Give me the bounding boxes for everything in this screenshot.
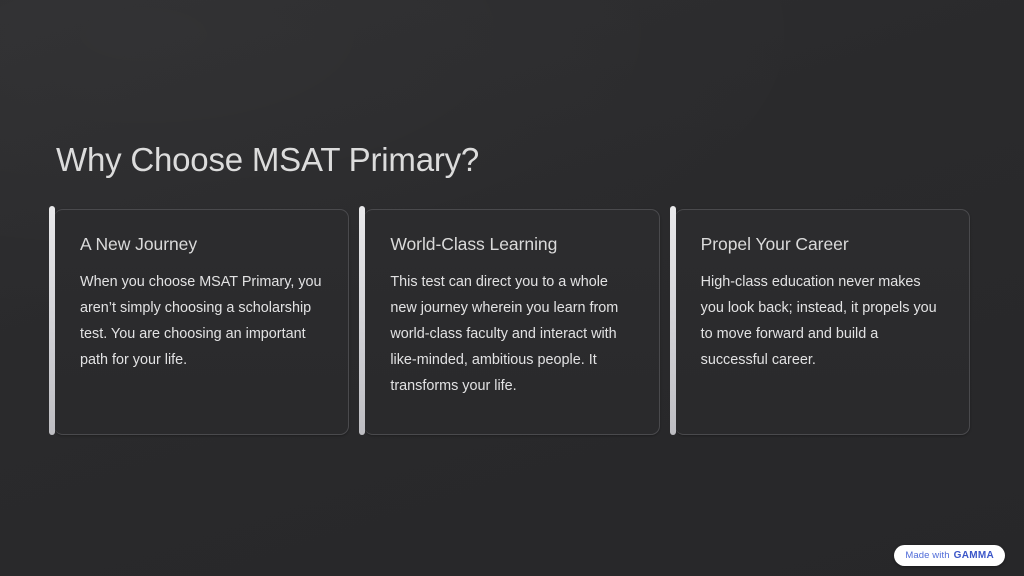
card-accent-bar — [670, 206, 676, 435]
card-accent-bar — [359, 206, 365, 435]
card-title: World-Class Learning — [390, 232, 634, 256]
card-body-text: This test can direct you to a whole new … — [390, 269, 634, 399]
card-title: Propel Your Career — [701, 232, 945, 256]
card-title: A New Journey — [80, 232, 324, 256]
card-body-text: High-class education never makes you loo… — [701, 269, 945, 373]
badge-gamma-wordmark: GAMMA — [954, 551, 994, 561]
card-body-text: When you choose MSAT Primary, you aren’t… — [80, 269, 324, 373]
feature-card[interactable]: A New Journey When you choose MSAT Prima… — [54, 209, 349, 435]
card-accent-bar — [49, 206, 55, 435]
page-title: Why Choose MSAT Primary? — [56, 139, 479, 181]
feature-card[interactable]: World-Class Learning This test can direc… — [364, 209, 659, 435]
slide-canvas: Why Choose MSAT Primary? A New Journey W… — [0, 0, 1024, 576]
feature-card-row: A New Journey When you choose MSAT Prima… — [54, 209, 970, 435]
badge-made-with-label: Made with — [905, 551, 949, 561]
made-with-gamma-badge[interactable]: Made with GAMMA — [894, 545, 1005, 566]
feature-card[interactable]: Propel Your Career High-class education … — [675, 209, 970, 435]
